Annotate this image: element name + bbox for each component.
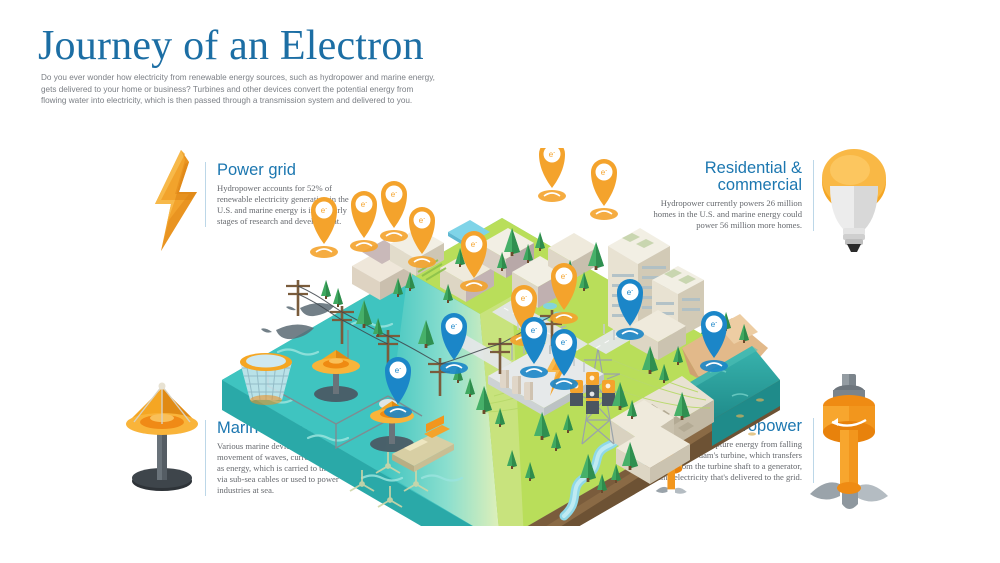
map-pin-orange: e- [538,148,566,202]
map-pin-orange: e- [310,197,338,258]
hydro-turbine-icon [808,372,890,512]
page-title: Journey of an Electron [38,22,424,70]
wave-buoy-icon [122,378,202,493]
intro-paragraph: Do you ever wonder how electricity from … [41,72,441,107]
map-pin-orange: e- [380,181,408,242]
isometric-energy-map: e- e- e- [212,148,790,526]
lightning-bolt-icon [145,148,205,253]
infographic-root: Journey of an Electron Do you ever wonde… [0,0,1000,563]
map-pin-orange: e- [590,159,618,220]
light-bulb-icon [818,142,890,257]
map-pin-orange: e- [350,191,378,252]
